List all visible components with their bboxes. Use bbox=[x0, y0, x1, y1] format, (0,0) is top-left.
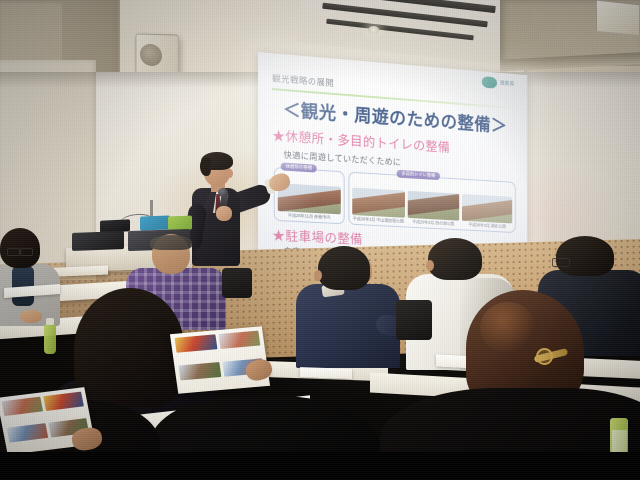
slide-photo-caption: 平成28年3月 中山道加宿公園 bbox=[353, 216, 404, 224]
logo-mark-icon bbox=[482, 76, 497, 89]
slide-logo-text: 滋賀県 bbox=[500, 80, 514, 88]
handout-thumbnail bbox=[218, 331, 260, 349]
microphone-head-icon bbox=[218, 188, 228, 197]
slide-photo: 平成29年3月 西の湖公園 bbox=[408, 179, 460, 227]
handout-thumbnail bbox=[174, 334, 216, 352]
attendee-ear bbox=[426, 260, 434, 271]
handout-thumbnail bbox=[178, 362, 220, 380]
attendee-hair-highlight bbox=[480, 302, 536, 354]
photo-group-toilets: 多目的トイレ整備 平成28年3月 中山道加宿公園 平成29年3月 西の湖公園 平… bbox=[348, 172, 516, 233]
slide-logo: 滋賀県 bbox=[482, 76, 514, 90]
slide-photo-image bbox=[408, 191, 460, 221]
presentation-room-photo: 滋賀県 観光戦略の展開 ＜観光・周遊のための整備＞ ★休憩所・多目的トイレの整備… bbox=[0, 0, 640, 480]
attendee-hair bbox=[74, 288, 184, 408]
chair bbox=[396, 300, 432, 340]
bottle-label bbox=[612, 430, 627, 452]
presenter-ear bbox=[227, 169, 233, 178]
presenter-hair-side bbox=[200, 158, 211, 176]
foreground-dark-band bbox=[0, 452, 640, 480]
attendee-hair bbox=[428, 238, 482, 280]
attendee-hair bbox=[556, 236, 614, 276]
slide-photo-caption: 平成29年3月 西の湖公園 bbox=[412, 220, 454, 227]
attendee-hair bbox=[318, 246, 370, 290]
glasses-icon bbox=[552, 258, 570, 267]
glasses-icon bbox=[20, 248, 33, 256]
downlight-icon bbox=[368, 26, 379, 34]
bottle-cap bbox=[46, 318, 54, 325]
handout-thumbnail bbox=[1, 397, 42, 416]
attendee-hand bbox=[20, 310, 42, 323]
glasses-icon bbox=[7, 248, 20, 256]
attendee-ear bbox=[314, 270, 322, 281]
chair bbox=[222, 268, 252, 298]
tea-bottle-icon bbox=[44, 324, 56, 354]
attendee-man-navy-suit bbox=[300, 246, 396, 366]
paper-sheet bbox=[300, 367, 352, 379]
teal-case-icon bbox=[140, 215, 170, 230]
slide-photo-image bbox=[462, 194, 512, 223]
handout-thumbnail bbox=[43, 392, 84, 411]
projector-icon bbox=[72, 231, 124, 251]
slide-photo-row: 休憩所の整備 平成26年11月 彦根市内 多目的トイレ整備 平成28年3月 中山… bbox=[274, 167, 516, 233]
slide-photo-caption: 平成30年3月 湖北公園 bbox=[468, 222, 505, 229]
slide-photo-image bbox=[352, 188, 405, 218]
attendee-hair bbox=[150, 235, 192, 250]
slide-photo: 平成28年3月 中山道加宿公園 bbox=[352, 176, 405, 225]
recessed-light-icon bbox=[596, 0, 640, 36]
presenter-mic-hand bbox=[216, 206, 232, 221]
slide-photo-caption: 平成26年11月 彦根市内 bbox=[288, 213, 330, 220]
slide-photo: 平成30年3月 湖北公園 bbox=[462, 182, 512, 229]
handout-thumbnail bbox=[6, 423, 47, 442]
